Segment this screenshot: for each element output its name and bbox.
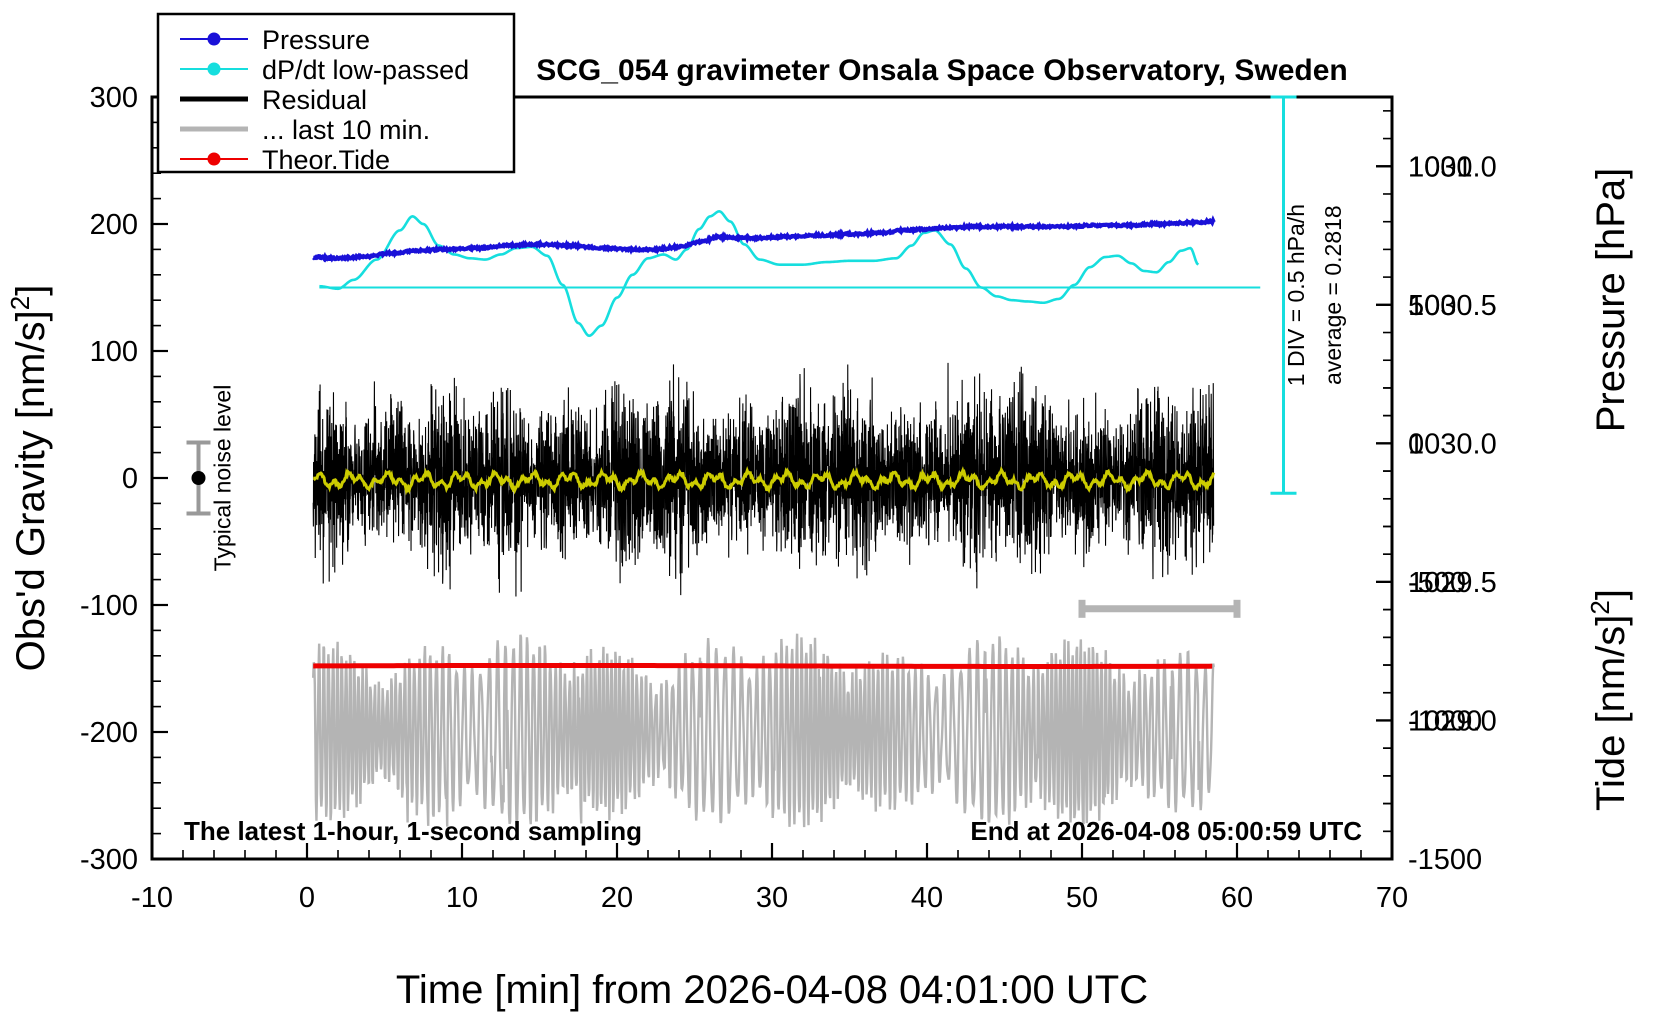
x-tick-label: 10	[446, 882, 478, 914]
typical-noise-level-marker: Typical noise level	[187, 385, 236, 572]
x-tick-label: 20	[601, 882, 633, 914]
legend-marker-dot	[208, 63, 221, 76]
chart-title: SCG_054 gravimeter Onsala Space Observat…	[536, 54, 1348, 87]
y-axis-title-pressure: Pressure [hPa]	[1589, 168, 1633, 433]
x-tick-label: 40	[911, 882, 943, 914]
x-tick-label: 70	[1376, 882, 1408, 914]
pressure-scale-division-label: 1 DIV = 0.5 hPa/h	[1283, 204, 1309, 386]
pressure-scale-bar: 1 DIV = 0.5 hPa/haverage = 0.2818	[1271, 97, 1347, 493]
sampling-note: The latest 1-hour, 1-second sampling	[184, 816, 642, 846]
y-tick-label-left: 200	[90, 209, 138, 241]
x-tick-label: 0	[299, 882, 315, 914]
y-axis-left: 3002001000-100-200-300	[80, 82, 168, 876]
series-theoretical-tide	[313, 665, 1212, 666]
y-axis-title-left: Obs'd Gravity [nm/s]2]	[5, 285, 53, 672]
end-time-note: End at 2026-04-08 05:00:59 UTC	[970, 816, 1362, 846]
y-tick-label-tide: 1000	[1408, 151, 1473, 183]
x-axis-title: Time [min] from 2026-04-08 04:01:00 UTC	[396, 968, 1148, 1012]
pressure-average-label: average = 0.2818	[1320, 205, 1346, 385]
last-10-min-range-bar	[1082, 600, 1237, 618]
x-tick-label: 50	[1066, 882, 1098, 914]
y-tick-label-tide: -500	[1408, 567, 1466, 599]
legend-marker-dot	[208, 33, 221, 46]
legend: PressuredP/dt low-passedResidual... last…	[158, 14, 514, 175]
x-axis: -10010203040506070	[131, 843, 1408, 914]
y-tick-label-left: 0	[122, 463, 138, 495]
x-tick-label: -10	[131, 882, 173, 914]
series-dpdt-lowpassed	[319, 211, 1198, 335]
y-tick-label-left: -300	[80, 844, 138, 876]
y-tick-label-tide: -1000	[1408, 705, 1482, 737]
y-tick-label-left: -200	[80, 717, 138, 749]
y-tick-label-left: -100	[80, 590, 138, 622]
gravimeter-chart-page: -10010203040506070Time [min] from 2026-0…	[0, 0, 1660, 1020]
legend-label: dP/dt low-passed	[262, 55, 469, 85]
legend-label: ... last 10 min.	[262, 115, 430, 145]
y-tick-label-tide: 0	[1408, 428, 1424, 460]
y-tick-label-tide: 500	[1408, 290, 1456, 322]
series-pressure	[313, 220, 1214, 259]
legend-label: Residual	[262, 85, 367, 115]
y-tick-label-tide: -1500	[1408, 844, 1482, 876]
typical-noise-level-label: Typical noise level	[210, 385, 236, 572]
x-tick-label: 60	[1221, 882, 1253, 914]
series-last-10-min	[313, 634, 1214, 827]
legend-label: Theor.Tide	[262, 145, 390, 175]
gravimeter-timeseries-chart: -10010203040506070Time [min] from 2026-0…	[0, 0, 1660, 1020]
legend-marker-dot	[208, 153, 221, 166]
y-tick-label-left: 100	[90, 336, 138, 368]
y-axis-title-tide: Tide [nm/s]2]	[1585, 589, 1633, 811]
legend-label: Pressure	[262, 25, 370, 55]
y-tick-label-left: 300	[90, 82, 138, 114]
x-tick-label: 30	[756, 882, 788, 914]
